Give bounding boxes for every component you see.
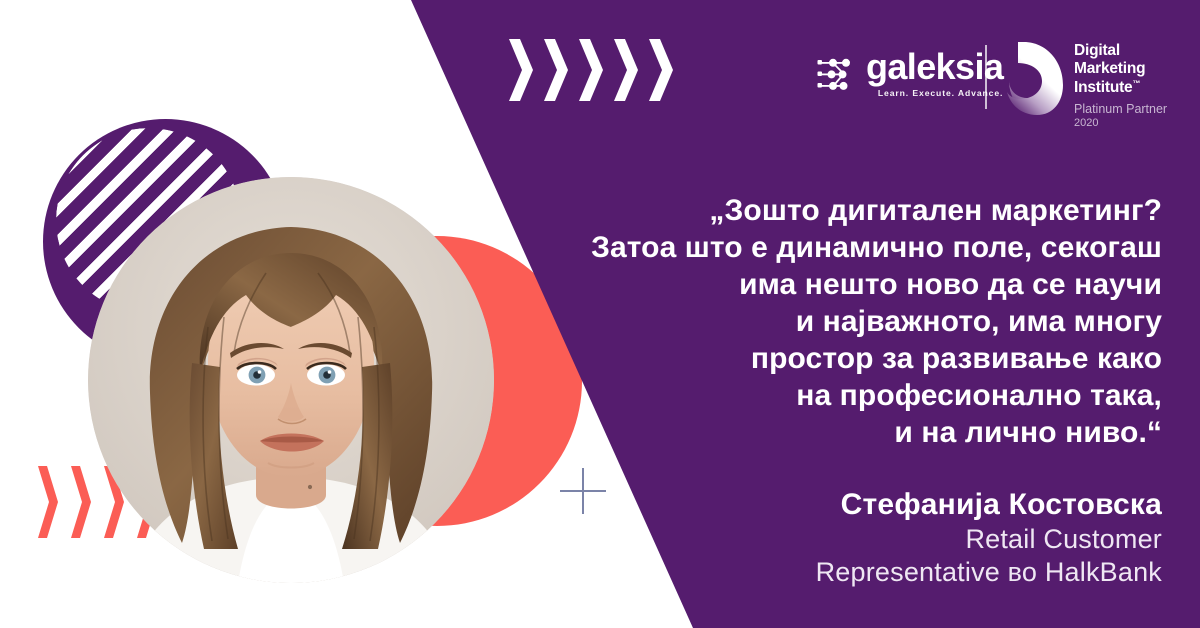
logo-divider (985, 45, 987, 109)
portrait-photo (88, 177, 494, 583)
person-role-line: Representative во HalkBank (522, 556, 1162, 589)
quote-text: „Зошто дигитален маркетинг? Затоа што е … (522, 192, 1162, 451)
quote-line: „Зошто дигитален маркетинг? (522, 192, 1162, 229)
testimonial-banner: galeksia Learn. Execute. Advance. Digita… (0, 0, 1200, 628)
galeksia-wordmark: galeksia (866, 49, 1003, 85)
quote-line: и најважното, има многу (522, 303, 1162, 340)
quote-line: на професионално така, (522, 377, 1162, 414)
attribution-block: Стефанија Костовска Retail Customer Repr… (522, 487, 1162, 589)
chevron-right-icon (649, 39, 675, 101)
quote-line: простор за развивање како (522, 340, 1162, 377)
chevron-right-icon (71, 466, 93, 538)
chevron-right-icon (544, 39, 570, 101)
dmi-title-line-3: Institute (1074, 79, 1132, 96)
dmi-title-line-1: Digital (1074, 42, 1167, 60)
header-chevrons-decoration (509, 39, 675, 101)
chevron-right-icon (614, 39, 640, 101)
chevron-right-icon (509, 39, 535, 101)
avatar (88, 177, 494, 583)
quote-line: има нешто ново да се научи (522, 266, 1162, 303)
dmi-title-line-2: Marketing (1074, 60, 1167, 78)
chevron-right-icon (579, 39, 605, 101)
network-nodes-icon (816, 53, 856, 95)
quote-line: Затоа што е динамично поле, секогаш (522, 229, 1162, 266)
dmi-partner-level: Platinum Partner (1074, 102, 1167, 117)
person-name: Стефанија Костовска (522, 487, 1162, 523)
galeksia-logo[interactable]: galeksia Learn. Execute. Advance. (816, 49, 1003, 98)
chevron-right-icon (38, 466, 60, 538)
quote-line: и на лично ниво.“ (522, 414, 1162, 451)
dmi-year: 2020 (1074, 117, 1167, 130)
galeksia-tagline: Learn. Execute. Advance. (866, 88, 1003, 98)
dmi-crescent-icon (1006, 40, 1063, 117)
person-role-line: Retail Customer (522, 523, 1162, 556)
dmi-logo[interactable]: Digital Marketing Institute™ Platinum Pa… (1006, 40, 1167, 130)
trademark-symbol: ™ (1132, 79, 1140, 88)
